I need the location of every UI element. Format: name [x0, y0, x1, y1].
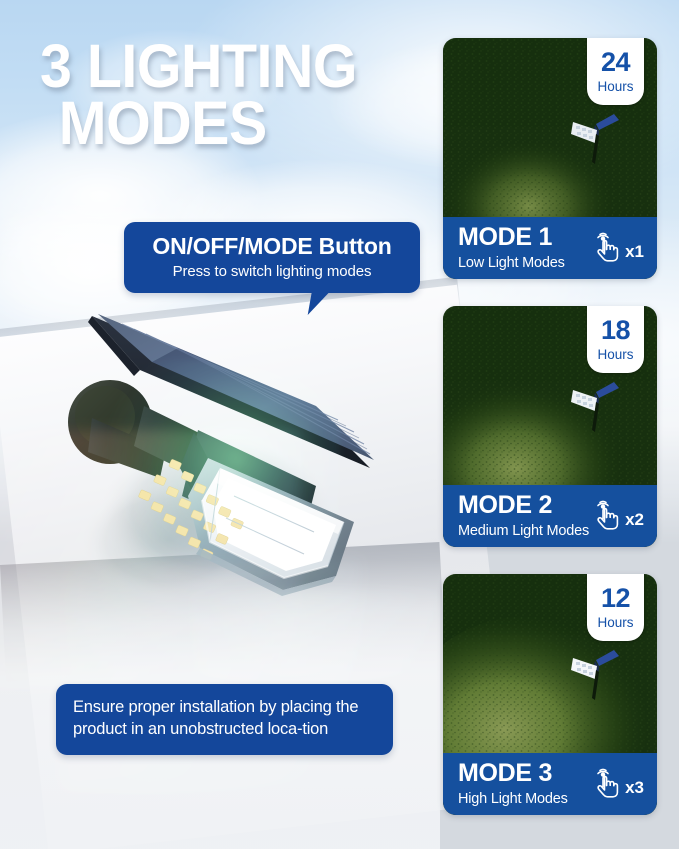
callout-pointer [308, 289, 336, 315]
button-callout: ON/OFF/MODE Button Press to switch light… [124, 222, 420, 293]
runtime-hours-unit: Hours [597, 348, 633, 362]
mode-subtitle: Medium Light Modes [458, 524, 595, 539]
title-line-2: MODES [40, 95, 407, 152]
solar-wall-light-product-image [48, 300, 448, 660]
installation-note-text: Ensure proper installation by placing th… [73, 697, 376, 741]
callout-title: ON/OFF/MODE Button [138, 234, 406, 258]
mode-card[interactable]: 18 Hours MODE 2 Medium Light Modes [443, 306, 657, 547]
tap-count: x1 [625, 243, 644, 265]
lamp-in-photo [565, 368, 621, 434]
mode-title: MODE 2 [458, 493, 595, 518]
hand-tap-icon [595, 767, 623, 801]
runtime-badge: 24 Hours [587, 38, 644, 105]
hand-tap-icon [595, 231, 623, 265]
page-title: 3 LIGHTING MODES [40, 38, 407, 151]
runtime-hours-value: 18 [601, 317, 630, 344]
product-infographic: 3 LIGHTING MODES ON/OFF/MODE Button Pres… [0, 0, 679, 849]
mode-card[interactable]: 12 Hours MODE 3 High Light Modes [443, 574, 657, 815]
tap-indicator: x2 [595, 499, 644, 533]
tap-indicator: x3 [595, 767, 644, 801]
hand-tap-icon [595, 499, 623, 533]
mode-subtitle: Low Light Modes [458, 256, 595, 271]
mode-label-bar: MODE 2 Medium Light Modes x2 [443, 485, 657, 547]
lamp-in-photo [565, 100, 621, 166]
mode-label-bar: MODE 1 Low Light Modes x1 [443, 217, 657, 279]
runtime-hours-value: 12 [601, 585, 630, 612]
callout-subtitle: Press to switch lighting modes [138, 263, 406, 280]
tap-count: x2 [625, 511, 644, 533]
mode-label-bar: MODE 3 High Light Modes x3 [443, 753, 657, 815]
lamp-in-photo [565, 636, 621, 702]
mode-subtitle: High Light Modes [458, 792, 595, 807]
runtime-badge: 12 Hours [587, 574, 644, 641]
runtime-hours-value: 24 [601, 49, 630, 76]
tap-indicator: x1 [595, 231, 644, 265]
runtime-badge: 18 Hours [587, 306, 644, 373]
tap-count: x3 [625, 779, 644, 801]
mode-title: MODE 3 [458, 761, 595, 786]
mode-title: MODE 1 [458, 225, 595, 250]
installation-note-box: Ensure proper installation by placing th… [56, 684, 393, 755]
runtime-hours-unit: Hours [597, 616, 633, 630]
runtime-hours-unit: Hours [597, 80, 633, 94]
mode-card[interactable]: 24 Hours MODE 1 Low Light Modes [443, 38, 657, 279]
